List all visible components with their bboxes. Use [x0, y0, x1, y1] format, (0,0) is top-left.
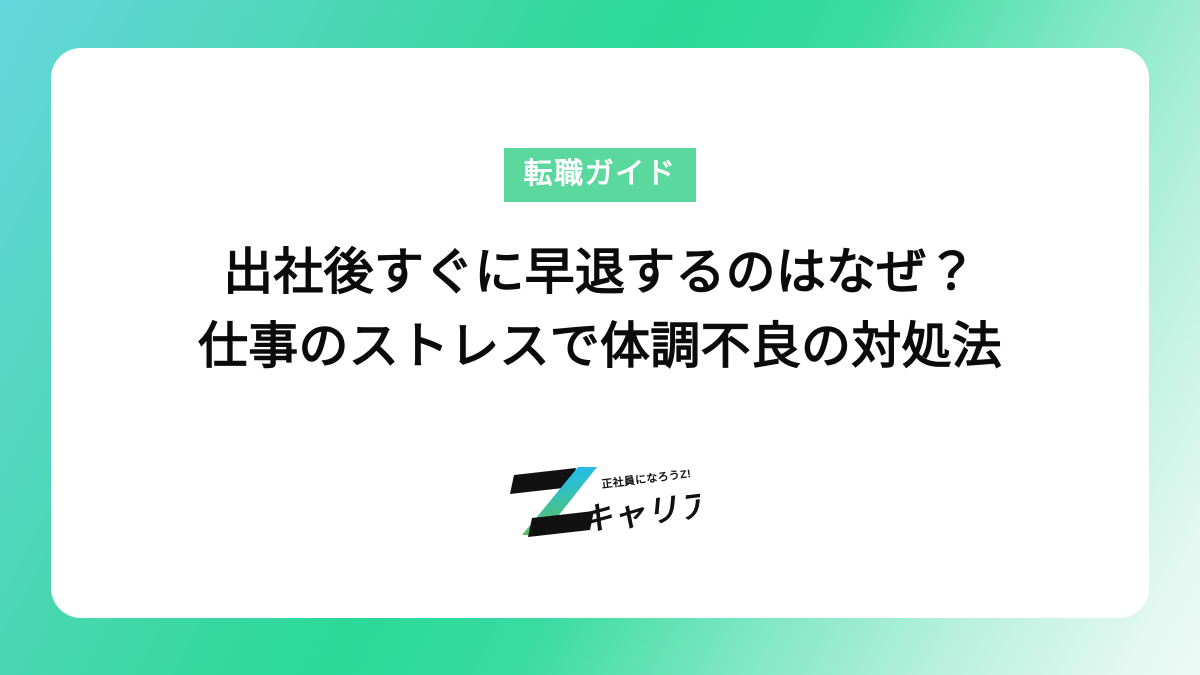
logo-wordmark-text: キャリア — [581, 486, 700, 537]
brand-logo-graphic: 正社員になろうZ! キャリア — [500, 461, 700, 543]
page-title: 出社後すぐに早退するのはなぜ？ 仕事のストレスで体調不良の対処法 — [198, 235, 1002, 383]
content-card: 転職ガイド 出社後すぐに早退するのはなぜ？ 仕事のストレスで体調不良の対処法 — [51, 48, 1149, 618]
brand-logo: 正社員になろうZ! キャリア — [500, 461, 700, 543]
category-badge: 転職ガイド — [504, 148, 697, 202]
page-title-line-2: 仕事のストレスで体調不良の対処法 — [198, 309, 1002, 383]
logo-tagline-text: 正社員になろうZ! — [601, 466, 692, 491]
page-title-line-1: 出社後すぐに早退するのはなぜ？ — [198, 235, 1002, 309]
poster-background: 転職ガイド 出社後すぐに早退するのはなぜ？ 仕事のストレスで体調不良の対処法 — [0, 0, 1200, 675]
